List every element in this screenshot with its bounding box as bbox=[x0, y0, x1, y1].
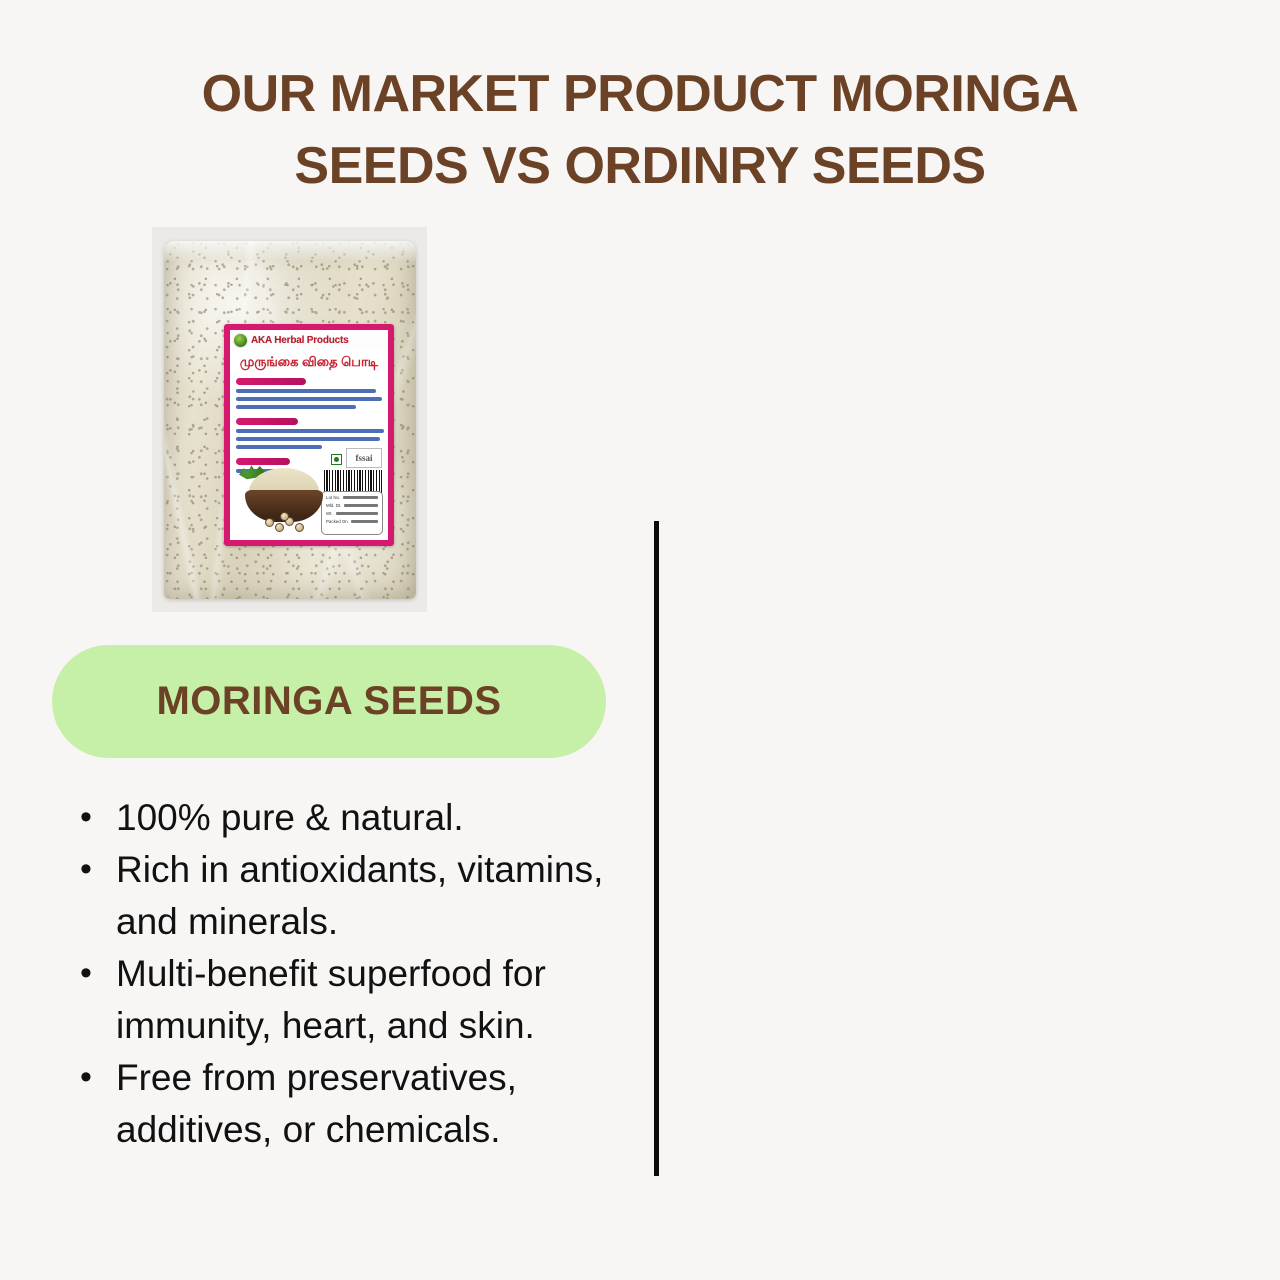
brand-logo-icon bbox=[233, 333, 248, 348]
label-text-line bbox=[236, 429, 384, 433]
list-item: Multi-benefit superfood for immunity, he… bbox=[62, 948, 637, 1052]
list-item: Rich in antioxidants, vitamins, and mine… bbox=[62, 844, 637, 948]
pouch-top-seal bbox=[164, 241, 416, 261]
fssai-logo-icon: fssai bbox=[346, 448, 382, 468]
label-text-line bbox=[236, 445, 322, 449]
ordinary-seeds-column: ORDINARY SEEDS May include dust, husk, o… bbox=[659, 0, 1280, 1280]
label-text-line bbox=[236, 389, 376, 393]
moringa-seeds-header-label: MORINGA SEEDS bbox=[156, 679, 501, 724]
product-name-tamil: முருங்கை விதை பொடி bbox=[230, 350, 388, 374]
label-section-bar-2 bbox=[236, 418, 298, 425]
label-section-bar-1 bbox=[236, 378, 306, 385]
label-text-line bbox=[236, 397, 382, 401]
list-item: Free from preservatives, additives, or c… bbox=[62, 1052, 637, 1156]
product-label: AKA Herbal Products முருங்கை விதை பொடி f… bbox=[224, 324, 394, 546]
list-item: 100% pure & natural. bbox=[62, 792, 637, 844]
label-text-line bbox=[236, 405, 356, 409]
label-text-line bbox=[236, 437, 380, 441]
comparison-infographic: OUR MARKET PRODUCT MORINGA SEEDS VS ORDI… bbox=[0, 0, 1280, 1280]
moringa-seeds-column: AKA Herbal Products முருங்கை விதை பொடி f… bbox=[0, 0, 654, 1280]
seed-decoration bbox=[295, 523, 304, 532]
seed-decoration bbox=[265, 518, 274, 527]
label-brand-row: AKA Herbal Products bbox=[230, 330, 388, 350]
seed-decoration bbox=[280, 512, 289, 521]
bowl-illustration bbox=[235, 460, 331, 536]
moringa-benefits-list: 100% pure & natural. Rich in antioxidant… bbox=[62, 792, 637, 1156]
moringa-seeds-header-pill: MORINGA SEEDS bbox=[52, 645, 606, 758]
veg-mark-icon bbox=[331, 454, 342, 465]
seed-decoration bbox=[275, 523, 284, 532]
moringa-product-image: AKA Herbal Products முருங்கை விதை பொடி f… bbox=[152, 227, 427, 612]
brand-name: AKA Herbal Products bbox=[251, 335, 349, 346]
